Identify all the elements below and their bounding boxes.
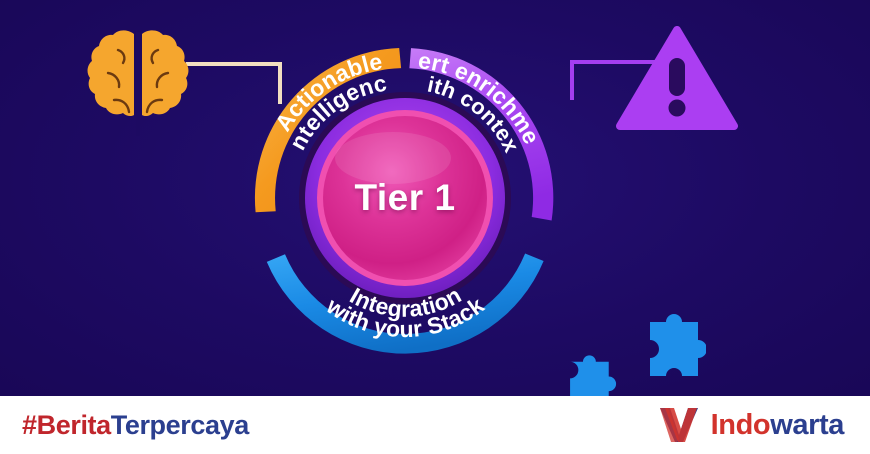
hashtag-slogan: #BeritaTerpercaya (22, 410, 249, 441)
brand-name-part-a: Indo (711, 409, 771, 441)
center-highlight (335, 132, 451, 184)
w-monogram-icon (656, 405, 702, 445)
donut-chart: Actionable Intelligence Alert enrichment… (225, 18, 585, 378)
alert-triangle-icon (616, 26, 738, 130)
brand-name-part-b: warta (770, 409, 844, 441)
footer-bar: #BeritaTerpercaya Indowarta (0, 396, 870, 454)
hashtag-part-a: #Berita (22, 410, 111, 440)
brand-logo[interactable]: Indowarta (656, 405, 844, 445)
brand-name: Indowarta (711, 409, 844, 442)
hero-graphic: Actionable Intelligence Alert enrichment… (0, 0, 870, 396)
hashtag-part-b: Terpercaya (111, 410, 249, 440)
infographic-page: Actionable Intelligence Alert enrichment… (0, 0, 870, 454)
brain-icon (78, 28, 198, 140)
